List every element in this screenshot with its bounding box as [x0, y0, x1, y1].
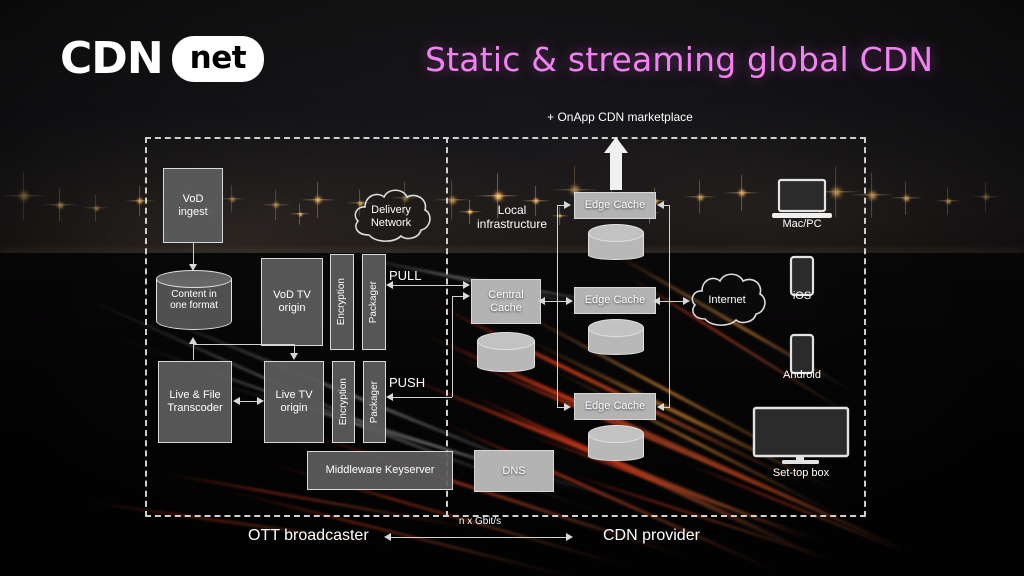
box-middleware-keyserver[interactable]: Middleware Keyserver — [307, 451, 453, 490]
connector-cache-bus-vertical — [557, 205, 558, 407]
cylinder-edge-cache-bottom-storage — [588, 425, 644, 461]
box-central-cache-label: CentralCache — [488, 289, 523, 314]
cylinder-edge-cache-top-storage — [588, 224, 644, 260]
arrowhead-left — [386, 281, 393, 289]
box-packager-bottom[interactable]: Packager — [363, 361, 386, 443]
arrowhead-right — [566, 297, 573, 305]
footer-cdn-provider-label: CDN provider — [603, 527, 700, 545]
arrowhead-left — [233, 397, 240, 405]
box-vod-tv-origin-label: VoD TVorigin — [273, 289, 311, 314]
connector-pull-line — [390, 285, 468, 286]
footer-bidirectional-line — [388, 537, 570, 538]
box-packager-bottom-label: Packager — [369, 381, 381, 423]
connector-push-line — [390, 397, 452, 398]
device-mac-pc-label: Mac/PC — [742, 218, 862, 230]
device-ios-label: iOS — [742, 290, 862, 302]
label-push: PUSH — [389, 375, 425, 391]
box-edge-cache-mid[interactable]: Edge Cache — [574, 287, 656, 314]
architecture-diagram: + OnApp CDN marketplace VoDingest Conten… — [0, 0, 1024, 576]
box-encryption-top[interactable]: Encryption — [330, 254, 354, 350]
box-packager-top[interactable]: Packager — [362, 254, 386, 350]
arrowhead-left — [386, 393, 393, 401]
box-vod-ingest[interactable]: VoDingest — [163, 168, 223, 243]
arrowhead-left — [657, 403, 664, 411]
cylinder-content-one-format[interactable]: Content inone format — [156, 270, 232, 330]
box-live-tv-origin[interactable]: Live TVorigin — [264, 361, 324, 443]
box-middleware-keyserver-label: Middleware Keyserver — [326, 464, 435, 477]
arrowhead-right — [564, 403, 571, 411]
footer-ott-broadcaster-label: OTT broadcaster — [248, 527, 369, 545]
arrowhead-right — [566, 533, 573, 541]
marketplace-label: + OnApp CDN marketplace — [470, 110, 770, 124]
cloud-delivery-network[interactable]: DeliveryNetwork — [349, 183, 433, 250]
cylinder-edge-cache-mid-storage — [588, 319, 644, 355]
label-pull: PULL — [389, 268, 422, 284]
box-vod-tv-origin[interactable]: VoD TVorigin — [261, 258, 323, 346]
box-live-tv-origin-label: Live TVorigin — [275, 389, 312, 414]
arrowhead-right — [257, 397, 264, 405]
arrowhead-down — [290, 353, 298, 360]
label-local-infrastructure: Localinfrastructure — [462, 203, 562, 232]
box-edge-cache-top[interactable]: Edge Cache — [574, 192, 656, 219]
box-encryption-bottom[interactable]: Encryption — [332, 361, 355, 443]
arrowhead-right — [463, 292, 470, 300]
cylinder-central-cache-storage — [477, 332, 535, 372]
arrowhead-left — [653, 297, 660, 305]
box-packager-top-label: Packager — [368, 281, 380, 323]
device-set-top-box-label: Set-top box — [741, 467, 861, 479]
box-vod-ingest-label: VoDingest — [178, 193, 207, 218]
box-encryption-bottom-label: Encryption — [338, 378, 350, 425]
arrowhead-right — [463, 281, 470, 289]
device-set-top-box-icon[interactable] — [752, 406, 850, 469]
cylinder-content-one-format-label: Content inone format — [156, 270, 232, 330]
marketplace-up-arrow-icon — [604, 137, 628, 190]
connector-transcoder-horizontal — [193, 344, 294, 345]
cloud-delivery-network-label: DeliveryNetwork — [349, 183, 433, 250]
arrowhead-left — [538, 297, 545, 305]
box-edge-cache-bottom[interactable]: Edge Cache — [574, 393, 656, 420]
box-dns-label: DNS — [502, 465, 525, 478]
connector-ingest-to-content — [193, 243, 194, 265]
box-live-file-transcoder-label: Live & FileTranscoder — [167, 389, 222, 414]
footer-link-speed-label: n x Gbit/s — [400, 516, 560, 527]
box-encryption-top-label: Encryption — [336, 278, 348, 325]
connector-internet-bus-vertical — [669, 205, 670, 407]
arrowhead-right — [564, 201, 571, 209]
box-edge-cache-bottom-label: Edge Cache — [585, 400, 646, 413]
box-edge-cache-top-label: Edge Cache — [585, 199, 646, 212]
box-dns[interactable]: DNS — [474, 450, 554, 492]
arrowhead-left — [657, 201, 664, 209]
arrowhead-right — [683, 297, 690, 305]
connector-push-vertical — [452, 296, 453, 397]
box-central-cache[interactable]: CentralCache — [471, 279, 541, 324]
device-android-label: Android — [742, 369, 862, 381]
box-edge-cache-mid-label: Edge Cache — [585, 294, 646, 307]
arrowhead-up — [189, 337, 197, 344]
box-live-file-transcoder[interactable]: Live & FileTranscoder — [158, 361, 232, 443]
arrowhead-left — [384, 533, 391, 541]
connector-transcoder-up — [193, 344, 194, 360]
